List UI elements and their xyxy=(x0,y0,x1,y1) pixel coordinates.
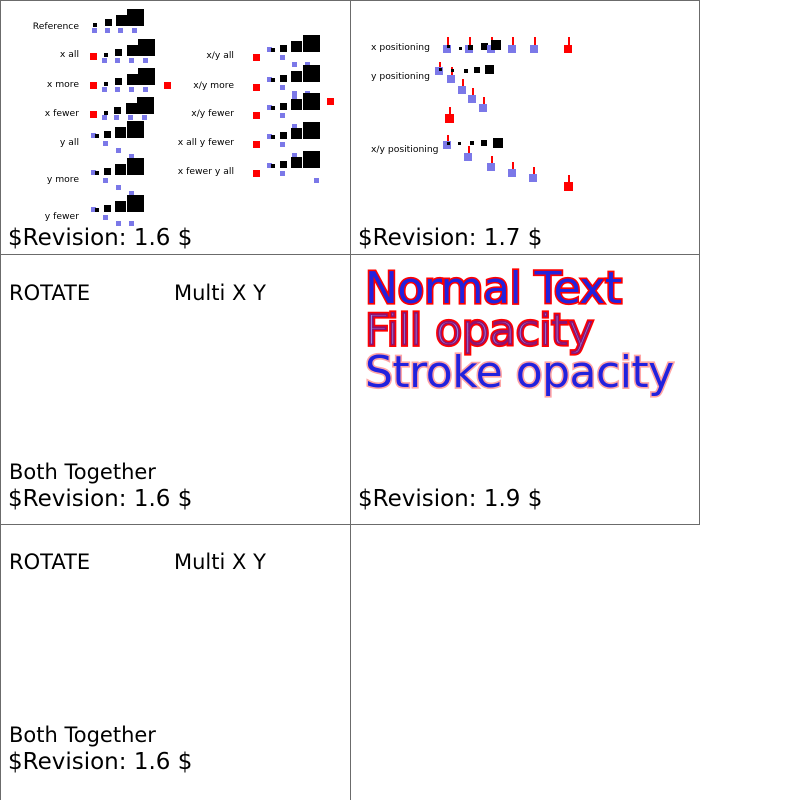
footer-both-together-lower: Both Together xyxy=(9,723,156,747)
row-label-xy-positioning: x/y positioning xyxy=(371,145,439,154)
row-label-x-more: x more xyxy=(11,80,79,89)
revision-label-panel2: $Revision: 1.7 $ xyxy=(358,225,542,251)
revision-label-panel3: $Revision: 1.6 $ xyxy=(8,486,192,512)
panel-rotate-multi-xy-upper: ROTATE Multi X Y Both Together $Revision… xyxy=(0,254,351,525)
opacity-line-stroke-opacity: Stroke opacity Stroke opacity xyxy=(365,351,674,395)
panel-positioning-tests: x positioning y positioning x/y position… xyxy=(350,0,700,255)
row-label-xy-fewer: x/y fewer xyxy=(156,109,234,118)
panel-rotate-multi-xy-lower: ROTATE Multi X Y Both Together $Revision… xyxy=(0,524,351,800)
test-panel-grid: Reference x all x more x fewer y all y m… xyxy=(0,0,800,800)
revision-label-panel1: $Revision: 1.6 $ xyxy=(8,225,192,251)
row-label-reference: Reference xyxy=(11,22,79,31)
heading-multi-xy-upper: Multi X Y xyxy=(174,281,266,305)
row-label-xy-all: x/y all xyxy=(156,51,234,60)
heading-rotate-lower: ROTATE xyxy=(9,550,90,574)
revision-label-panel4: $Revision: 1.9 $ xyxy=(358,486,542,512)
panel-opacity-text: Normal Text Normal Text Fill opacity Fil… xyxy=(350,254,700,525)
row-label-x-fewer: x fewer xyxy=(11,109,79,118)
row-label-y-fewer: y fewer xyxy=(11,212,79,221)
revision-label-panel5: $Revision: 1.6 $ xyxy=(8,749,192,775)
row-label-x-fewer-y-all: x fewer y all xyxy=(146,167,234,176)
row-label-x-positioning: x positioning xyxy=(371,43,430,52)
panel-text-anchor-tests: Reference x all x more x fewer y all y m… xyxy=(0,0,351,255)
row-label-x-all: x all xyxy=(11,50,79,59)
row-label-y-all: y all xyxy=(11,138,79,147)
row-label-x-all-y-fewer: x all y fewer xyxy=(146,138,234,147)
row-label-y-positioning: y positioning xyxy=(371,72,430,81)
row-label-y-more: y more xyxy=(11,175,79,184)
footer-both-together-upper: Both Together xyxy=(9,460,156,484)
stroke-opacity-fill: Stroke opacity xyxy=(365,347,674,398)
heading-rotate-upper: ROTATE xyxy=(9,281,90,305)
heading-multi-xy-lower: Multi X Y xyxy=(174,550,266,574)
